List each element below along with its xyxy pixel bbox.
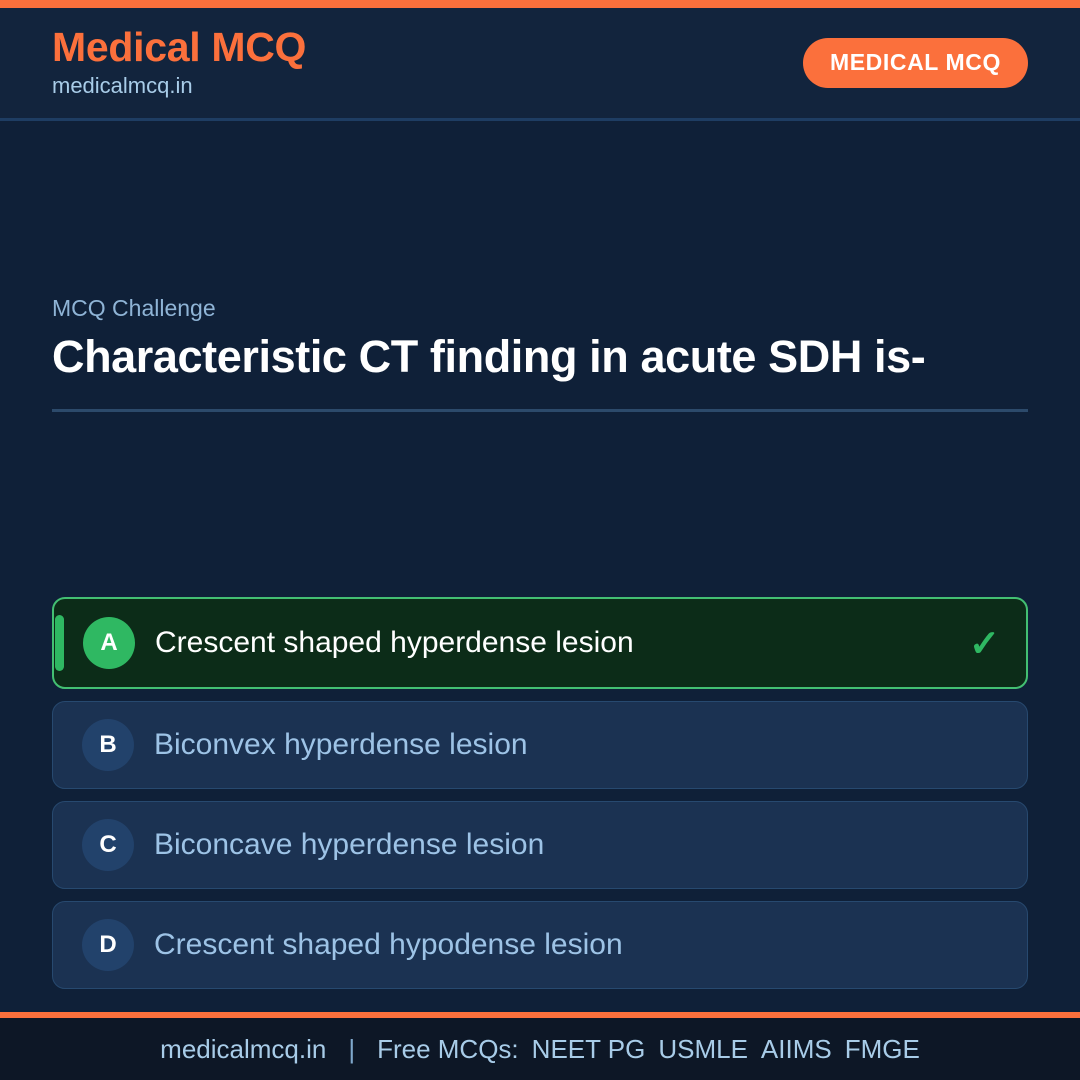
- option-letter-badge: B: [82, 719, 134, 771]
- option-letter-badge: D: [82, 919, 134, 971]
- correct-accent-bar: [55, 615, 64, 671]
- footer-inner: medicalmcq.in | Free MCQs: NEET PG USMLE…: [160, 1034, 920, 1065]
- footer-exam-usmle[interactable]: USMLE: [658, 1034, 748, 1065]
- footer-exam-fmge[interactable]: FMGE: [845, 1034, 920, 1065]
- brand-title: Medical MCQ: [52, 26, 306, 69]
- footer-label: Free MCQs:: [377, 1034, 519, 1065]
- question-divider: [52, 409, 1028, 412]
- option-label: Biconcave hyperdense lesion: [154, 827, 1001, 863]
- top-accent-bar: [0, 0, 1080, 8]
- check-icon: ✓: [969, 625, 1000, 662]
- page-header: Medical MCQ medicalmcq.in MEDICAL MCQ: [0, 8, 1080, 121]
- question-block: MCQ Challenge Characteristic CT finding …: [52, 295, 1028, 412]
- option-row-d[interactable]: D Crescent shaped hypodense lesion: [52, 901, 1028, 989]
- brand-block: Medical MCQ medicalmcq.in: [52, 26, 306, 100]
- option-label: Crescent shaped hyperdense lesion: [155, 625, 955, 661]
- footer-exam-aiims[interactable]: AIIMS: [761, 1034, 832, 1065]
- footer-site[interactable]: medicalmcq.in: [160, 1034, 326, 1065]
- main-content: MCQ Challenge Characteristic CT finding …: [0, 121, 1080, 1012]
- option-label: Crescent shaped hypodense lesion: [154, 927, 1001, 963]
- footer-separator: |: [348, 1034, 355, 1065]
- footer-exam-neetpg[interactable]: NEET PG: [532, 1034, 646, 1065]
- option-letter-badge: A: [83, 617, 135, 669]
- option-row-a[interactable]: A Crescent shaped hyperdense lesion ✓: [52, 597, 1028, 689]
- page-footer: medicalmcq.in | Free MCQs: NEET PG USMLE…: [0, 1018, 1080, 1080]
- option-row-c[interactable]: C Biconcave hyperdense lesion: [52, 801, 1028, 889]
- options-list: A Crescent shaped hyperdense lesion ✓ B …: [52, 597, 1028, 989]
- header-badge[interactable]: MEDICAL MCQ: [803, 38, 1028, 88]
- option-row-b[interactable]: B Biconvex hyperdense lesion: [52, 701, 1028, 789]
- question-eyebrow: MCQ Challenge: [52, 295, 1028, 323]
- option-label: Biconvex hyperdense lesion: [154, 727, 1001, 763]
- brand-subtitle: medicalmcq.in: [52, 72, 306, 100]
- mcq-slide: Medical MCQ medicalmcq.in MEDICAL MCQ MC…: [0, 0, 1080, 1080]
- page-title: Characteristic CT finding in acute SDH i…: [52, 330, 1028, 383]
- option-letter-badge: C: [82, 819, 134, 871]
